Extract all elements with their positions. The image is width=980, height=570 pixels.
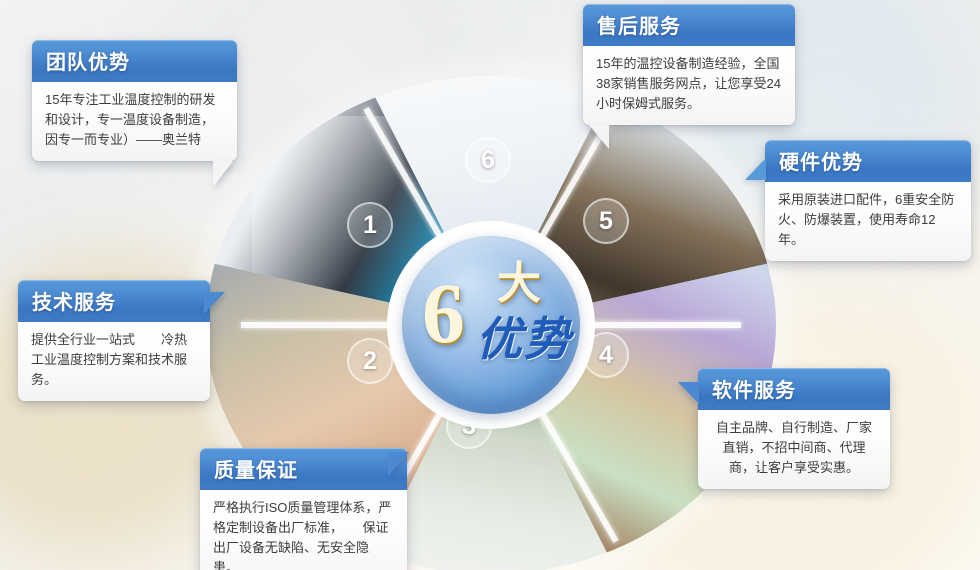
card-aftersales-tail [589,125,609,149]
card-team[interactable]: 团队优势 15年专注工业温度控制的研发和设计，专一温度设备制造，因专一而专业）—… [32,40,237,161]
card-software-body: 自主品牌、自行制造、厂家直销，不招中间商、代理商，让客户享受实惠。 [698,410,890,489]
card-team-body: 15年专注工业温度控制的研发和设计，专一温度设备制造，因专一而专业）——奥兰特 [32,82,237,161]
card-software[interactable]: 软件服务 自主品牌、自行制造、厂家直销，不招中间商、代理商，让客户享受实惠。 [698,368,890,489]
center-number-label: 大 [497,262,541,306]
segment-number-4: 4 [599,341,613,370]
card-hardware[interactable]: 硬件优势 采用原装进口配件，6重安全防火、防爆装置，使用寿命12年。 [765,140,971,261]
card-technical-title: 技术服务 [18,280,210,322]
segment-number-badge-2[interactable]: 2 [347,338,393,384]
card-aftersales-body: 15年的温控设备制造经验，全国38家销售服务网点，让您享受24小时保姆式服务。 [583,46,795,125]
card-technical-body: 提供全行业一站式 冷热工业温度控制方案和技术服务。 [18,322,210,401]
card-technical[interactable]: 技术服务 提供全行业一站式 冷热工业温度控制方案和技术服务。 [18,280,210,401]
card-software-tail [678,382,699,404]
segment-number-1: 1 [363,211,377,240]
segment-number-5: 5 [599,207,613,236]
segment-number-6: 6 [481,146,495,175]
center-word: 优势 [476,314,572,364]
segment-number-2: 2 [363,347,377,376]
center-number: 6 [422,270,465,356]
segment-number-badge-5[interactable]: 5 [583,198,629,244]
card-team-title: 团队优势 [32,40,237,82]
infographic-canvas: 1 2 3 4 5 6 6 大 优势 团队优势 15年专注工业温度控 [0,0,980,570]
card-quality[interactable]: 质量保证 严格执行ISO质量管理体系，严格定制设备出厂标准， 保证出厂设备无缺陷… [200,448,407,570]
card-quality-body: 严格执行ISO质量管理体系，严格定制设备出厂标准， 保证出厂设备无缺陷、无安全隐… [200,490,407,570]
card-software-title: 软件服务 [698,368,890,410]
card-aftersales-title: 售后服务 [583,4,795,46]
card-team-tail [213,161,233,187]
card-aftersales[interactable]: 售后服务 15年的温控设备制造经验，全国38家销售服务网点，让您享受24小时保姆… [583,4,795,125]
card-technical-tail [204,292,225,314]
card-hardware-tail [745,158,766,180]
card-quality-title: 质量保证 [200,448,407,490]
wheel-center-circle[interactable]: 6 大 优势 [402,236,580,414]
segment-number-badge-1[interactable]: 1 [347,202,393,248]
card-hardware-title: 硬件优势 [765,140,971,182]
segment-number-badge-6[interactable]: 6 [465,137,511,183]
segment-number-badge-4[interactable]: 4 [583,332,629,378]
card-quality-tail [388,452,409,476]
card-hardware-body: 采用原装进口配件，6重安全防火、防爆装置，使用寿命12年。 [765,182,971,261]
